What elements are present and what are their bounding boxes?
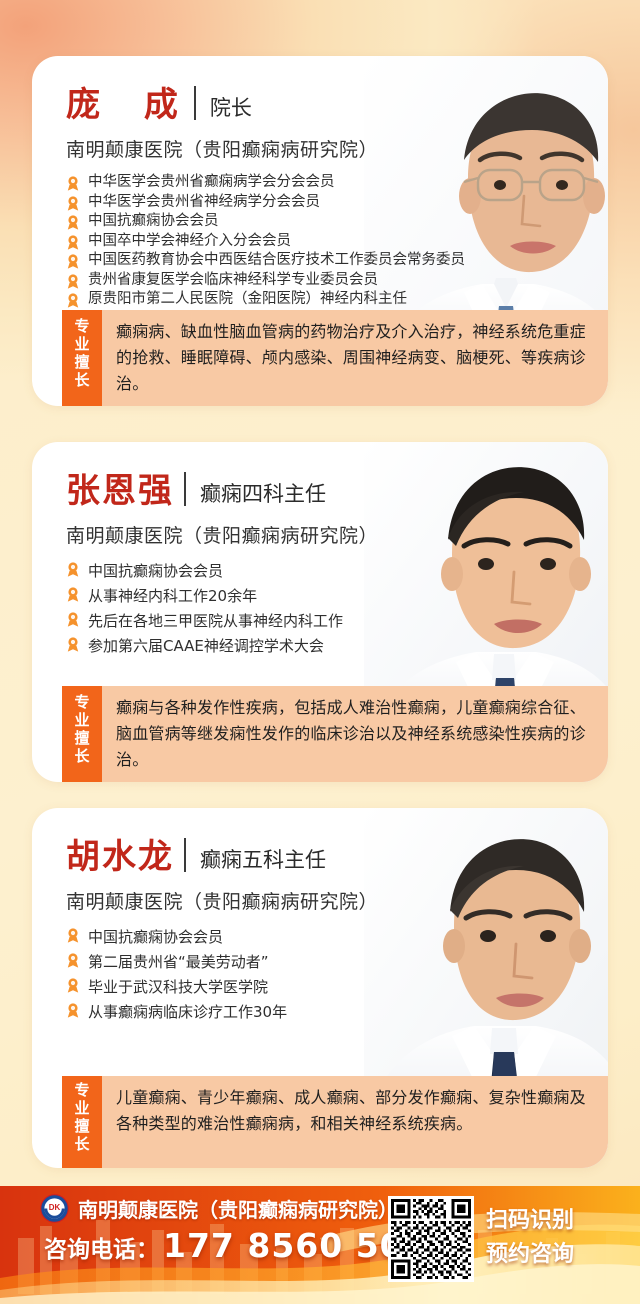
footer-hospital-row: DK 南明颠康医院（贵阳癫痫病研究院）: [40, 1194, 398, 1223]
qr-caption-line2: 预约咨询: [486, 1238, 574, 1272]
phone-label: 咨询电话：: [44, 1230, 159, 1264]
credential-item: 贵州省康复医学会临床神经科学专业委员会员: [66, 271, 608, 291]
doctor-title: 癫痫五科主任: [200, 850, 326, 874]
credential-item: 中国抗癫痫协会会员: [66, 925, 608, 950]
footer-contact-bar: DK 南明颠康医院（贵阳癫痫病研究院） 咨询电话： 177 8560 5016: [0, 1186, 640, 1304]
medal-icon: [66, 235, 80, 250]
name-title-divider: [194, 86, 196, 120]
medal-icon: [66, 1003, 80, 1018]
specialty-strip: 专业擅长 儿童癫痫、青少年癫痫、成人癫痫、部分发作癫痫、复杂性癫痫及各种类型的难…: [32, 1076, 608, 1168]
credential-text: 中国抗癫痫协会会员: [88, 562, 223, 580]
credential-item: 参加第六届CAAE神经调控学术大会: [66, 634, 608, 659]
doctor-card[interactable]: 胡水龙 癫痫五科主任 南明颠康医院（贵阳癫痫病研究院） 中国抗癫痫协会会员第二届…: [32, 808, 608, 1168]
medal-icon: [66, 254, 80, 269]
credential-text: 中华医学会贵州省癫痫病学会分会会员: [88, 174, 335, 190]
doctor-card[interactable]: 庞 成 院长 南明颠康医院（贵阳癫痫病研究院） 中华医学会贵州省癫痫病学会分会会…: [32, 56, 608, 406]
credential-item: 毕业于武汉科技大学医学院: [66, 975, 608, 1000]
credential-item: 中华医学会贵州省癫痫病学会分会会员: [66, 173, 608, 193]
medal-icon: [66, 562, 80, 577]
medal-icon: [66, 953, 80, 968]
name-title-divider: [184, 838, 186, 872]
poster-root: 庞 成 院长 南明颠康医院（贵阳癫痫病研究院） 中华医学会贵州省癫痫病学会分会会…: [0, 0, 640, 1304]
doctor-card[interactable]: 张恩强 癫痫四科主任 南明颠康医院（贵阳癫痫病研究院） 中国抗癫痫协会会员从事神…: [32, 442, 608, 782]
credential-list: 中华医学会贵州省癫痫病学会分会会员中华医学会贵州省神经病学分会会员中国抗癫痫协会…: [66, 173, 608, 310]
credential-text: 先后在各地三甲医院从事神经内科工作: [88, 612, 343, 630]
credential-text: 第二届贵州省“最美劳动者”: [88, 953, 269, 971]
credential-item: 中国医药教育协会中西医结合医疗技术工作委员会常务委员: [66, 251, 608, 271]
specialty-tag: 专业擅长: [62, 686, 102, 782]
medal-icon: [66, 176, 80, 191]
credential-list: 中国抗癫痫协会会员第二届贵州省“最美劳动者”毕业于武汉科技大学医学院从事癫痫病临…: [66, 925, 608, 1025]
hospital-logo-icon: DK: [40, 1194, 69, 1223]
credential-text: 中国医药教育协会中西医结合医疗技术工作委员会常务委员: [88, 252, 465, 268]
credential-text: 中国抗癫痫协会会员: [88, 213, 219, 229]
doctor-info: 张恩强 癫痫四科主任 南明颠康医院（贵阳癫痫病研究院） 中国抗癫痫协会会员从事神…: [32, 442, 608, 659]
credential-text: 从事神经内科工作20余年: [88, 587, 257, 605]
doctor-info: 庞 成 院长 南明颠康医院（贵阳癫痫病研究院） 中华医学会贵州省癫痫病学会分会会…: [32, 56, 608, 310]
credential-list: 中国抗癫痫协会会员从事神经内科工作20余年先后在各地三甲医院从事神经内科工作参加…: [66, 559, 608, 659]
credential-text: 中国抗癫痫协会会员: [88, 928, 223, 946]
medal-icon: [66, 612, 80, 627]
footer-hospital-name: 南明颠康医院（贵阳癫痫病研究院）: [78, 1194, 398, 1223]
specialty-tag: 专业擅长: [62, 1076, 102, 1168]
qr-code[interactable]: [388, 1196, 474, 1282]
medal-icon: [66, 293, 80, 308]
credential-item: 中国抗癫痫协会会员: [66, 559, 608, 584]
doctor-name: 张恩强: [66, 474, 174, 508]
credential-item: 中国抗癫痫协会会员: [66, 212, 608, 232]
medal-icon: [66, 587, 80, 602]
specialty-text: 癫痫病、缺血性脑血管病的药物治疗及介入治疗，神经系统危重症的抢救、睡眠障碍、颅内…: [102, 310, 608, 406]
credential-text: 贵州省康复医学会临床神经科学专业委员会员: [88, 272, 378, 288]
credential-item: 从事癫痫病临床诊疗工作30年: [66, 1000, 608, 1025]
qr-caption-line1: 扫码识别: [486, 1204, 574, 1238]
medal-icon: [66, 215, 80, 230]
doctor-title: 癫痫四科主任: [200, 484, 326, 508]
medal-icon: [66, 978, 80, 993]
specialty-strip: 专业擅长 癫痫病、缺血性脑血管病的药物治疗及介入治疗，神经系统危重症的抢救、睡眠…: [32, 310, 608, 406]
specialty-text: 儿童癫痫、青少年癫痫、成人癫痫、部分发作癫痫、复杂性癫痫及各种类型的难治性癫痫病…: [102, 1076, 608, 1168]
medal-icon: [66, 196, 80, 211]
medal-icon: [66, 637, 80, 652]
doctor-nameline: 庞 成 院长: [66, 78, 608, 122]
credential-text: 中华医学会贵州省神经病学分会会员: [88, 194, 320, 210]
medal-icon: [66, 274, 80, 289]
qr-code-image: [391, 1199, 471, 1279]
medal-icon: [66, 928, 80, 943]
credential-text: 中国卒中学会神经介入分会会员: [88, 233, 291, 249]
credential-text: 毕业于武汉科技大学医学院: [88, 978, 268, 996]
credential-text: 从事癫痫病临床诊疗工作30年: [88, 1003, 287, 1021]
credential-text: 参加第六届CAAE神经调控学术大会: [88, 637, 324, 655]
doctor-nameline: 张恩强 癫痫四科主任: [66, 464, 608, 508]
doctor-title: 院长: [210, 98, 252, 122]
doctor-hospital: 南明颠康医院（贵阳癫痫病研究院）: [66, 135, 608, 162]
doctor-hospital: 南明颠康医院（贵阳癫痫病研究院）: [66, 521, 608, 548]
credential-item: 从事神经内科工作20余年: [66, 584, 608, 609]
credential-item: 第二届贵州省“最美劳动者”: [66, 950, 608, 975]
doctor-name: 胡水龙: [66, 840, 174, 874]
name-title-divider: [184, 472, 186, 506]
credential-item: 中国卒中学会神经介入分会会员: [66, 232, 608, 252]
specialty-tag: 专业擅长: [62, 310, 102, 406]
qr-caption: 扫码识别 预约咨询: [486, 1204, 574, 1272]
svg-text:DK: DK: [49, 1203, 61, 1212]
doctor-hospital: 南明颠康医院（贵阳癫痫病研究院）: [66, 887, 608, 914]
doctor-info: 胡水龙 癫痫五科主任 南明颠康医院（贵阳癫痫病研究院） 中国抗癫痫协会会员第二届…: [32, 808, 608, 1025]
credential-item: 中华医学会贵州省神经病学分会会员: [66, 193, 608, 213]
credential-text: 原贵阳市第二人民医院（金阳医院）神经内科主任: [88, 291, 407, 307]
credential-item: 原贵阳市第二人民医院（金阳医院）神经内科主任: [66, 290, 608, 310]
specialty-strip: 专业擅长 癫痫与各种发作性疾病，包括成人难治性癫痫，儿童癫痫综合征、脑血管病等继…: [32, 686, 608, 782]
specialty-text: 癫痫与各种发作性疾病，包括成人难治性癫痫，儿童癫痫综合征、脑血管病等继发痫性发作…: [102, 686, 608, 782]
doctor-name: 庞 成: [66, 88, 194, 122]
doctor-nameline: 胡水龙 癫痫五科主任: [66, 830, 608, 874]
credential-item: 先后在各地三甲医院从事神经内科工作: [66, 609, 608, 634]
